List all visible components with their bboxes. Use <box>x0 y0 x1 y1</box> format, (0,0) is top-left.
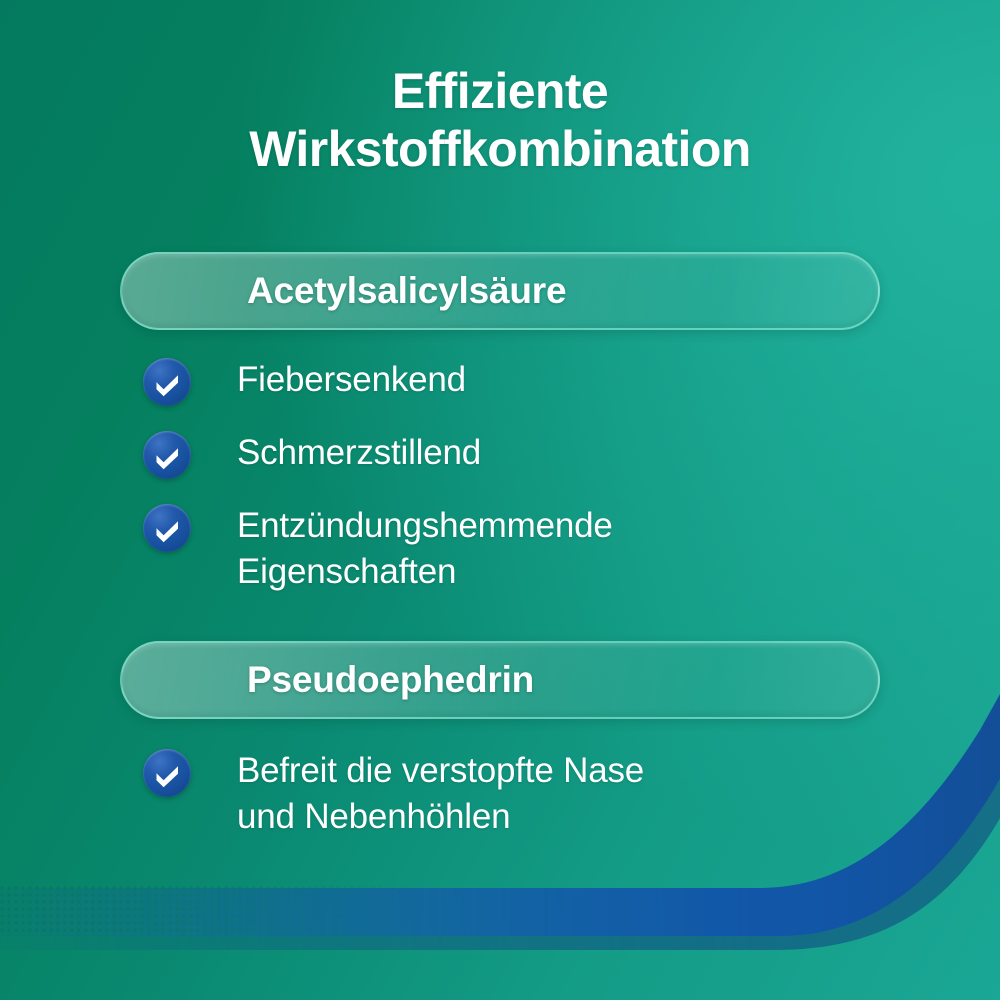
list-item-text: Befreit die verstopfte Nase und Nebenhöh… <box>237 748 644 840</box>
section-pill-label: Pseudoephedrin <box>247 659 534 701</box>
list-item: Fiebersenkend <box>143 357 933 406</box>
list-item-line: Fiebersenkend <box>237 357 466 403</box>
list-item: Entzündungshemmende Eigenschaften <box>143 503 933 595</box>
halftone-dot-fade <box>0 886 470 936</box>
list-item: Befreit die verstopfte Nase und Nebenhöh… <box>143 748 933 840</box>
page-title: Effiziente Wirkstoffkombination <box>0 62 1000 178</box>
list-item-line: Entzündungshemmende <box>237 503 613 549</box>
check-icon <box>143 504 191 552</box>
list-item-line: Befreit die verstopfte Nase <box>237 748 644 794</box>
check-icon <box>143 358 191 406</box>
check-icon <box>143 431 191 479</box>
list-item-text: Entzündungshemmende Eigenschaften <box>237 503 613 595</box>
check-icon <box>143 749 191 797</box>
list-item-line: Schmerzstillend <box>237 430 481 476</box>
list-item-text: Schmerzstillend <box>237 430 481 476</box>
list-item-text: Fiebersenkend <box>237 357 466 403</box>
section-pill-pseudoephedrin: Pseudoephedrin <box>120 641 880 719</box>
list-item-line: und Nebenhöhlen <box>237 794 644 840</box>
page-title-line-2: Wirkstoffkombination <box>0 120 1000 178</box>
promo-card: Effiziente Wirkstoffkombination Acetylsa… <box>0 0 1000 1000</box>
section-pill-acetylsalicylsaeure: Acetylsalicylsäure <box>120 252 880 330</box>
section-pill-label: Acetylsalicylsäure <box>247 270 566 312</box>
list-item: Schmerzstillend <box>143 430 933 479</box>
page-title-line-1: Effiziente <box>0 62 1000 120</box>
list-item-line: Eigenschaften <box>237 549 613 595</box>
